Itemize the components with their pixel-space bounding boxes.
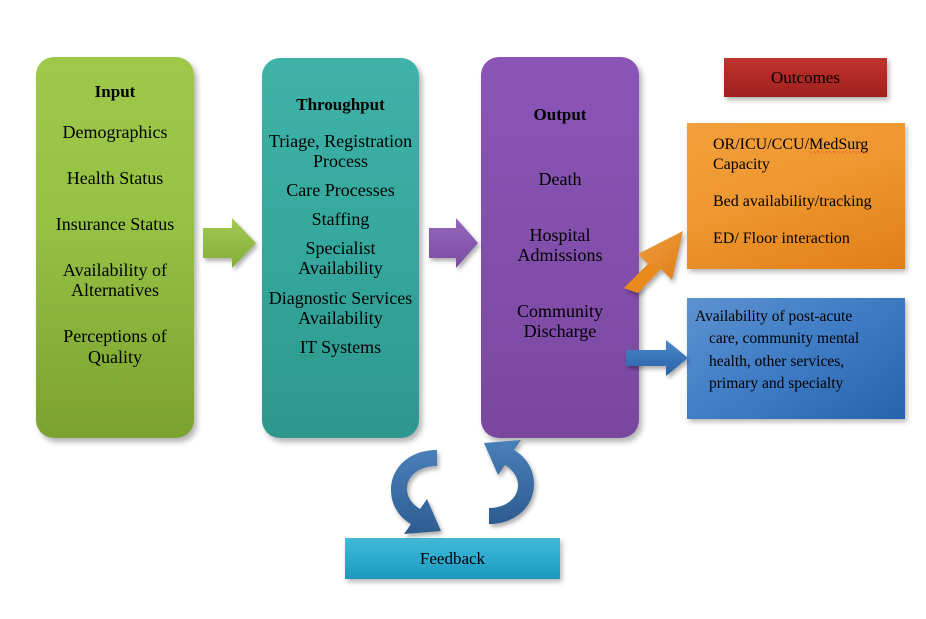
- input-item-health-status: Health Status: [41, 168, 190, 188]
- throughput-item-diagnostic-services: Diagnostic Services Availability: [267, 288, 415, 328]
- throughput-item-staffing: Staffing: [267, 209, 415, 229]
- capacity-line-2: Capacity: [713, 155, 905, 175]
- spacer: [713, 175, 905, 192]
- services-line-2: care, community mental: [695, 328, 897, 350]
- throughput-item-it-systems: IT Systems: [267, 337, 415, 357]
- input-item-demographics: Demographics: [41, 122, 190, 142]
- capacity-line-1: OR/ICU/CCU/MedSurg: [713, 135, 905, 155]
- input-title: Input: [95, 83, 136, 102]
- output-box[interactable]: Output Death Hospital Admissions Communi…: [481, 57, 639, 438]
- input-box[interactable]: Input Demographics Health Status Insuran…: [36, 57, 194, 438]
- throughput-item-specialist-availability: Specialist Availability: [267, 238, 415, 278]
- output-item-hospital-admissions: Hospital Admissions: [486, 225, 635, 265]
- output-item-list: Death Hospital Admissions Community Disc…: [481, 169, 639, 378]
- feedback-label: Feedback: [420, 549, 485, 569]
- capacity-line-3: Bed availability/tracking: [713, 192, 905, 212]
- outcomes-label: Outcomes: [771, 68, 840, 88]
- capacity-units: OR/ICU/CCU/: [713, 136, 809, 153]
- input-item-list: Demographics Health Status Insurance Sta…: [36, 122, 194, 393]
- services-line-4: primary and specialty: [695, 373, 897, 395]
- output-title: Output: [534, 106, 587, 125]
- arrow-throughput-to-output-icon: [429, 218, 478, 268]
- throughput-box[interactable]: Throughput Triage, Registration Process …: [262, 58, 419, 438]
- services-line-3: health, other services,: [695, 351, 897, 373]
- throughput-item-triage-registration: Triage, Registration Process: [267, 131, 415, 171]
- services-line-1: Availability of post-acute: [695, 306, 897, 328]
- input-item-availability-of-alternatives: Availability of Alternatives: [41, 260, 190, 300]
- throughput-title: Throughput: [296, 96, 385, 115]
- post-acute-services-box[interactable]: Availability of post-acute care, communi…: [687, 298, 905, 419]
- feedback-box[interactable]: Feedback: [345, 538, 560, 579]
- capacity-outcomes-box[interactable]: OR/ICU/CCU/MedSurg Capacity Bed availabi…: [687, 123, 905, 269]
- diagram-canvas: Input Demographics Health Status Insuran…: [0, 0, 926, 619]
- throughput-item-list: Triage, Registration Process Care Proces…: [262, 131, 419, 366]
- output-item-death: Death: [486, 169, 635, 189]
- it-abbrev: IT: [300, 337, 317, 358]
- systems-word: Systems: [317, 337, 382, 357]
- medsurg-word: MedSurg: [809, 136, 868, 154]
- input-item-perceptions-of-quality: Perceptions of Quality: [41, 326, 190, 366]
- output-item-community-discharge: Community Discharge: [486, 301, 635, 341]
- feedback-cycle-icon: [391, 440, 534, 534]
- spacer: [713, 212, 905, 229]
- outcomes-box[interactable]: Outcomes: [724, 58, 887, 97]
- input-item-insurance-status: Insurance Status: [41, 214, 190, 234]
- arrow-input-to-throughput-icon: [203, 218, 256, 268]
- throughput-item-care-processes: Care Processes: [267, 180, 415, 200]
- capacity-line-4: ED/ Floor interaction: [713, 229, 905, 249]
